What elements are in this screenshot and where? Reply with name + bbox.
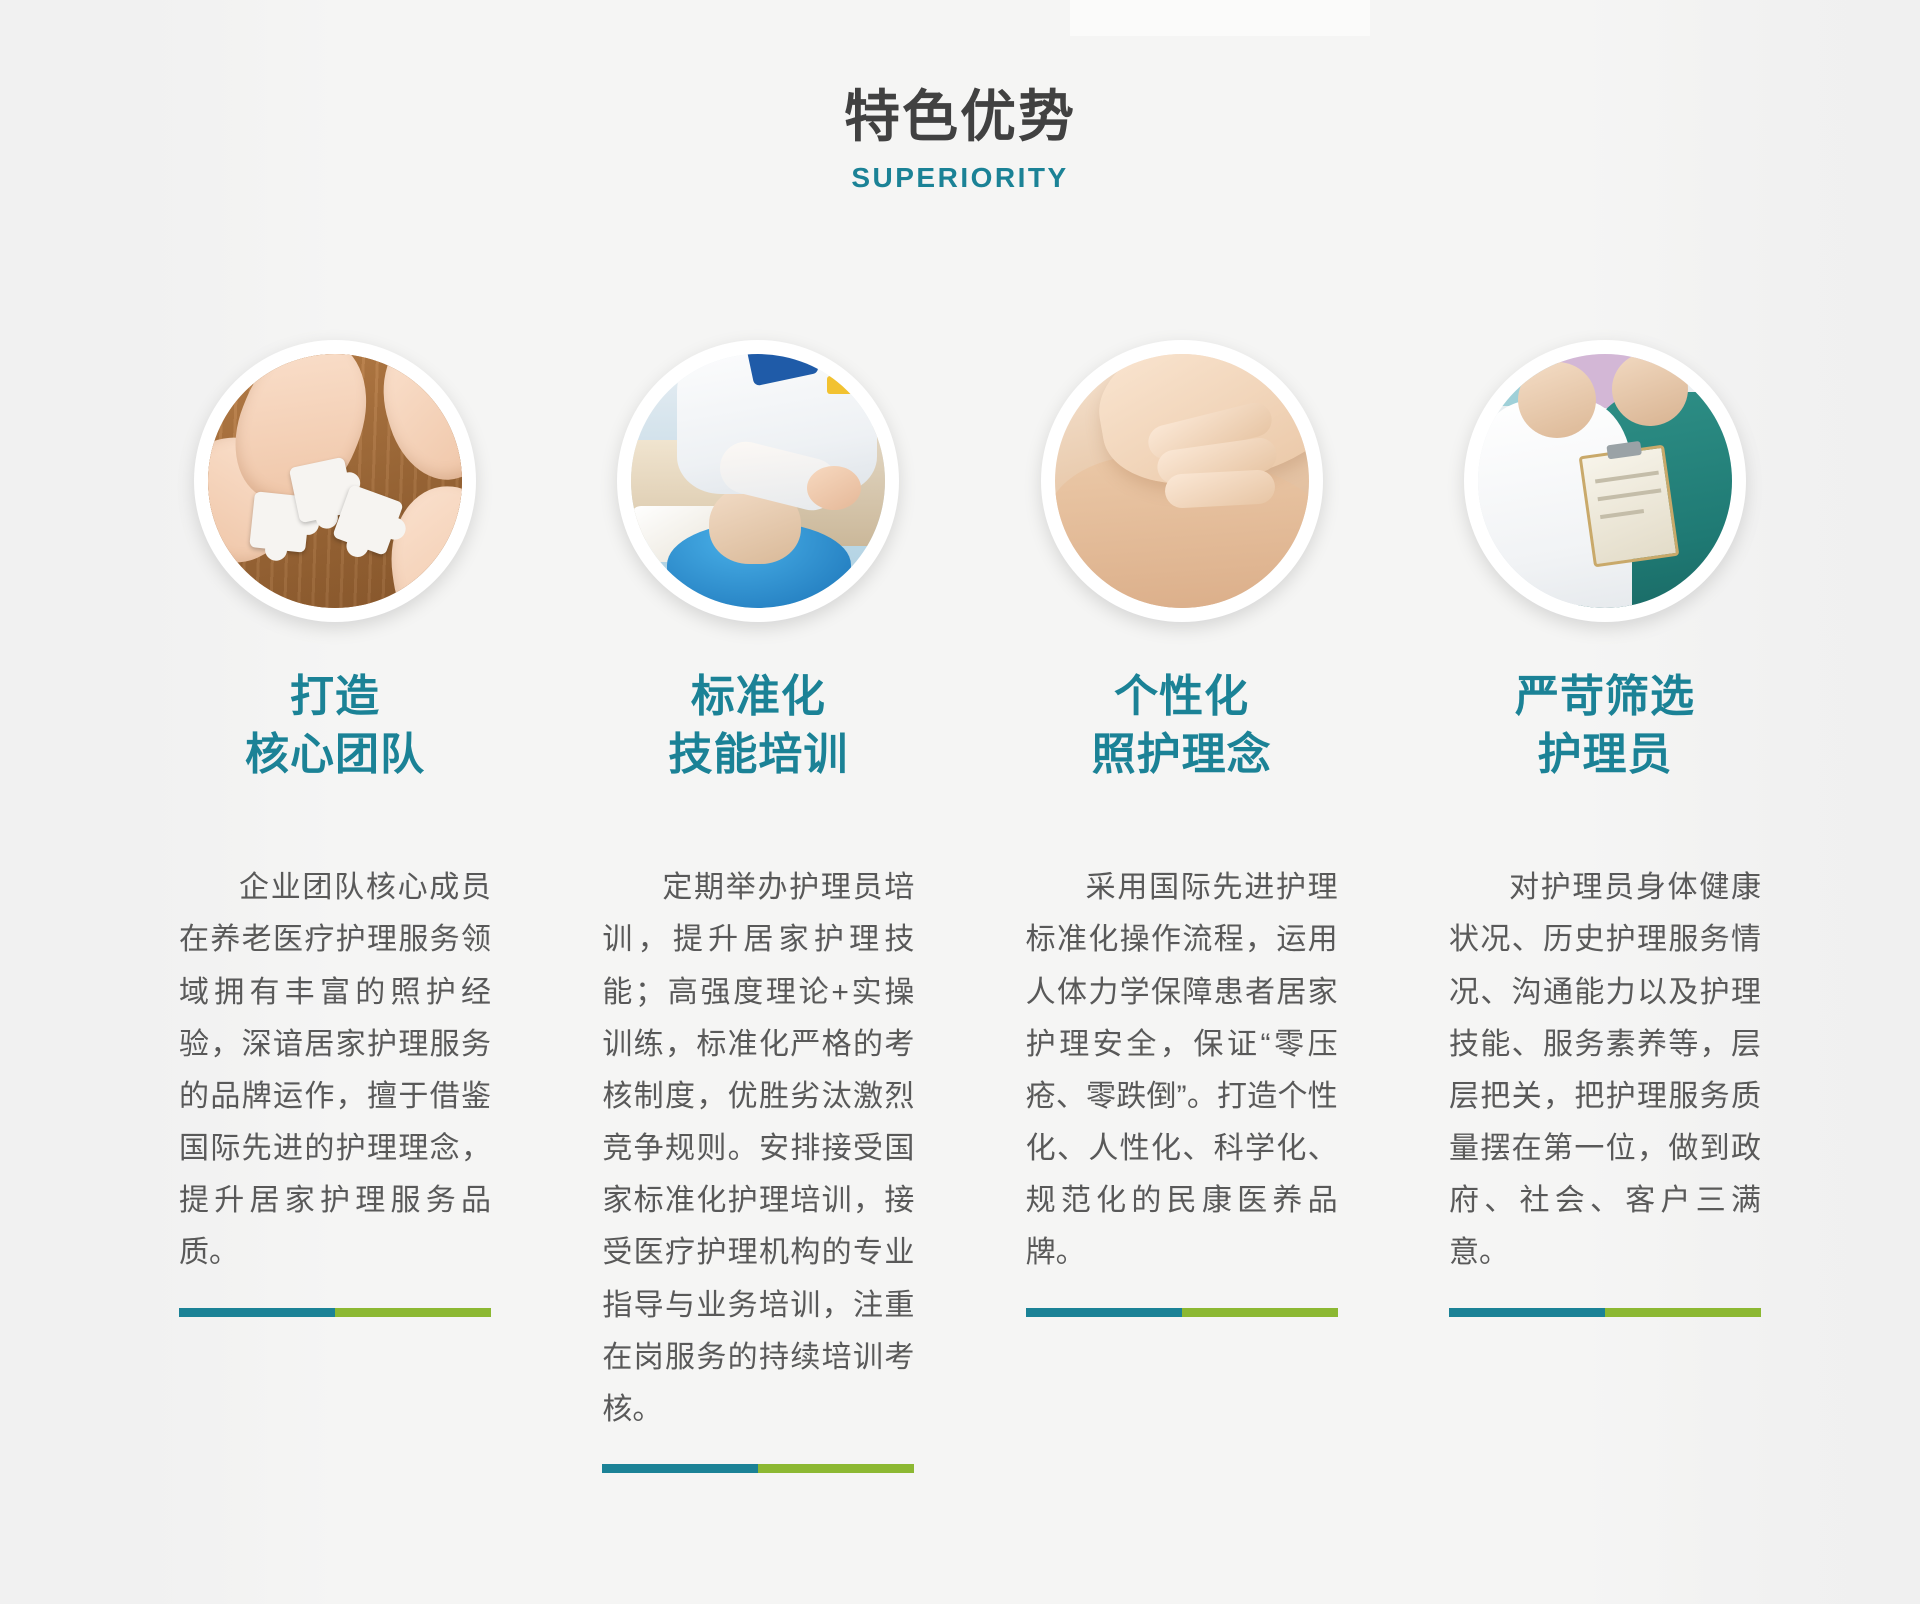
clipboard-line <box>1595 471 1659 484</box>
clipboard-line <box>1600 509 1644 519</box>
card-heading: 严苛筛选 护理员 <box>1515 668 1695 784</box>
page-title: 特色优势 <box>0 86 1920 148</box>
advantage-card-list: 打造 核心团队 企业团队核心成员在养老医疗护理服务领域拥有丰富的照护经验，深谙居… <box>160 340 1780 1473</box>
advantage-card[interactable]: 打造 核心团队 企业团队核心成员在养老医疗护理服务领域拥有丰富的照护经验，深谙居… <box>160 340 510 1317</box>
superiority-section: 特色优势 SUPERIORITY <box>0 0 1920 1604</box>
section-header: 特色优势 SUPERIORITY <box>0 86 1920 194</box>
card-image-frame <box>1041 340 1323 622</box>
photo-artwork <box>631 354 885 608</box>
card-image-frame <box>617 340 899 622</box>
divider-segment-green <box>335 1308 491 1317</box>
divider-segment-green <box>1605 1308 1761 1317</box>
finger-shape <box>1164 469 1276 509</box>
photo-artwork <box>1478 354 1732 608</box>
clipboard-shape <box>1579 445 1680 568</box>
divider-segment-teal <box>602 1464 758 1473</box>
photo-artwork <box>1055 354 1309 608</box>
holding-elder-hand-photo <box>1055 354 1309 608</box>
card-divider <box>1449 1308 1761 1317</box>
nurse-training-manikin-photo <box>631 354 885 608</box>
card-divider <box>1026 1308 1338 1317</box>
card-body-text: 企业团队核心成员在养老医疗护理服务领域拥有丰富的照护经验，深谙居家护理服务的品牌… <box>179 862 491 1280</box>
hands-assembling-puzzle-photo <box>208 354 462 608</box>
card-heading: 标准化 技能培训 <box>668 668 848 784</box>
card-image-frame <box>1464 340 1746 622</box>
advantage-card[interactable]: 个性化 照护理念 采用国际先进护理标准化操作流程，运用人体力学保障患者居家护理安… <box>1007 340 1357 1317</box>
divider-segment-green <box>1182 1308 1338 1317</box>
divider-segment-green <box>758 1464 914 1473</box>
divider-segment-teal <box>179 1308 335 1317</box>
card-heading: 打造 核心团队 <box>245 668 425 784</box>
advantage-card[interactable]: 标准化 技能培训 定期举办护理员培训，提升居家护理技能；高强度理论+实操训练，标… <box>583 340 933 1473</box>
divider-segment-teal <box>1026 1308 1182 1317</box>
divider-segment-teal <box>1449 1308 1605 1317</box>
staff-with-clipboard-photo <box>1478 354 1732 608</box>
card-body-text: 采用国际先进护理标准化操作流程，运用人体力学保障患者居家护理安全，保证“零压疮、… <box>1026 862 1338 1280</box>
card-divider <box>179 1308 491 1317</box>
card-image-frame <box>194 340 476 622</box>
card-body-text: 定期举办护理员培训，提升居家护理技能；高强度理论+实操训练，标准化严格的考核制度… <box>602 862 914 1436</box>
advantage-card[interactable]: 严苛筛选 护理员 对护理员身体健康状况、历史护理服务情况、沟通能力以及护理技能、… <box>1430 340 1780 1317</box>
name-badge-shape <box>827 376 857 394</box>
hand-shape <box>807 466 861 510</box>
card-body-text: 对护理员身体健康状况、历史护理服务情况、沟通能力以及护理技能、服务素养等，层层把… <box>1449 862 1761 1280</box>
head-shape <box>1612 354 1688 426</box>
clipboard-line <box>1597 488 1661 501</box>
card-divider <box>602 1464 914 1473</box>
head-shape <box>1518 362 1596 438</box>
page-subtitle: SUPERIORITY <box>0 162 1920 194</box>
card-heading: 个性化 照护理念 <box>1092 668 1272 784</box>
photo-artwork <box>208 354 462 608</box>
